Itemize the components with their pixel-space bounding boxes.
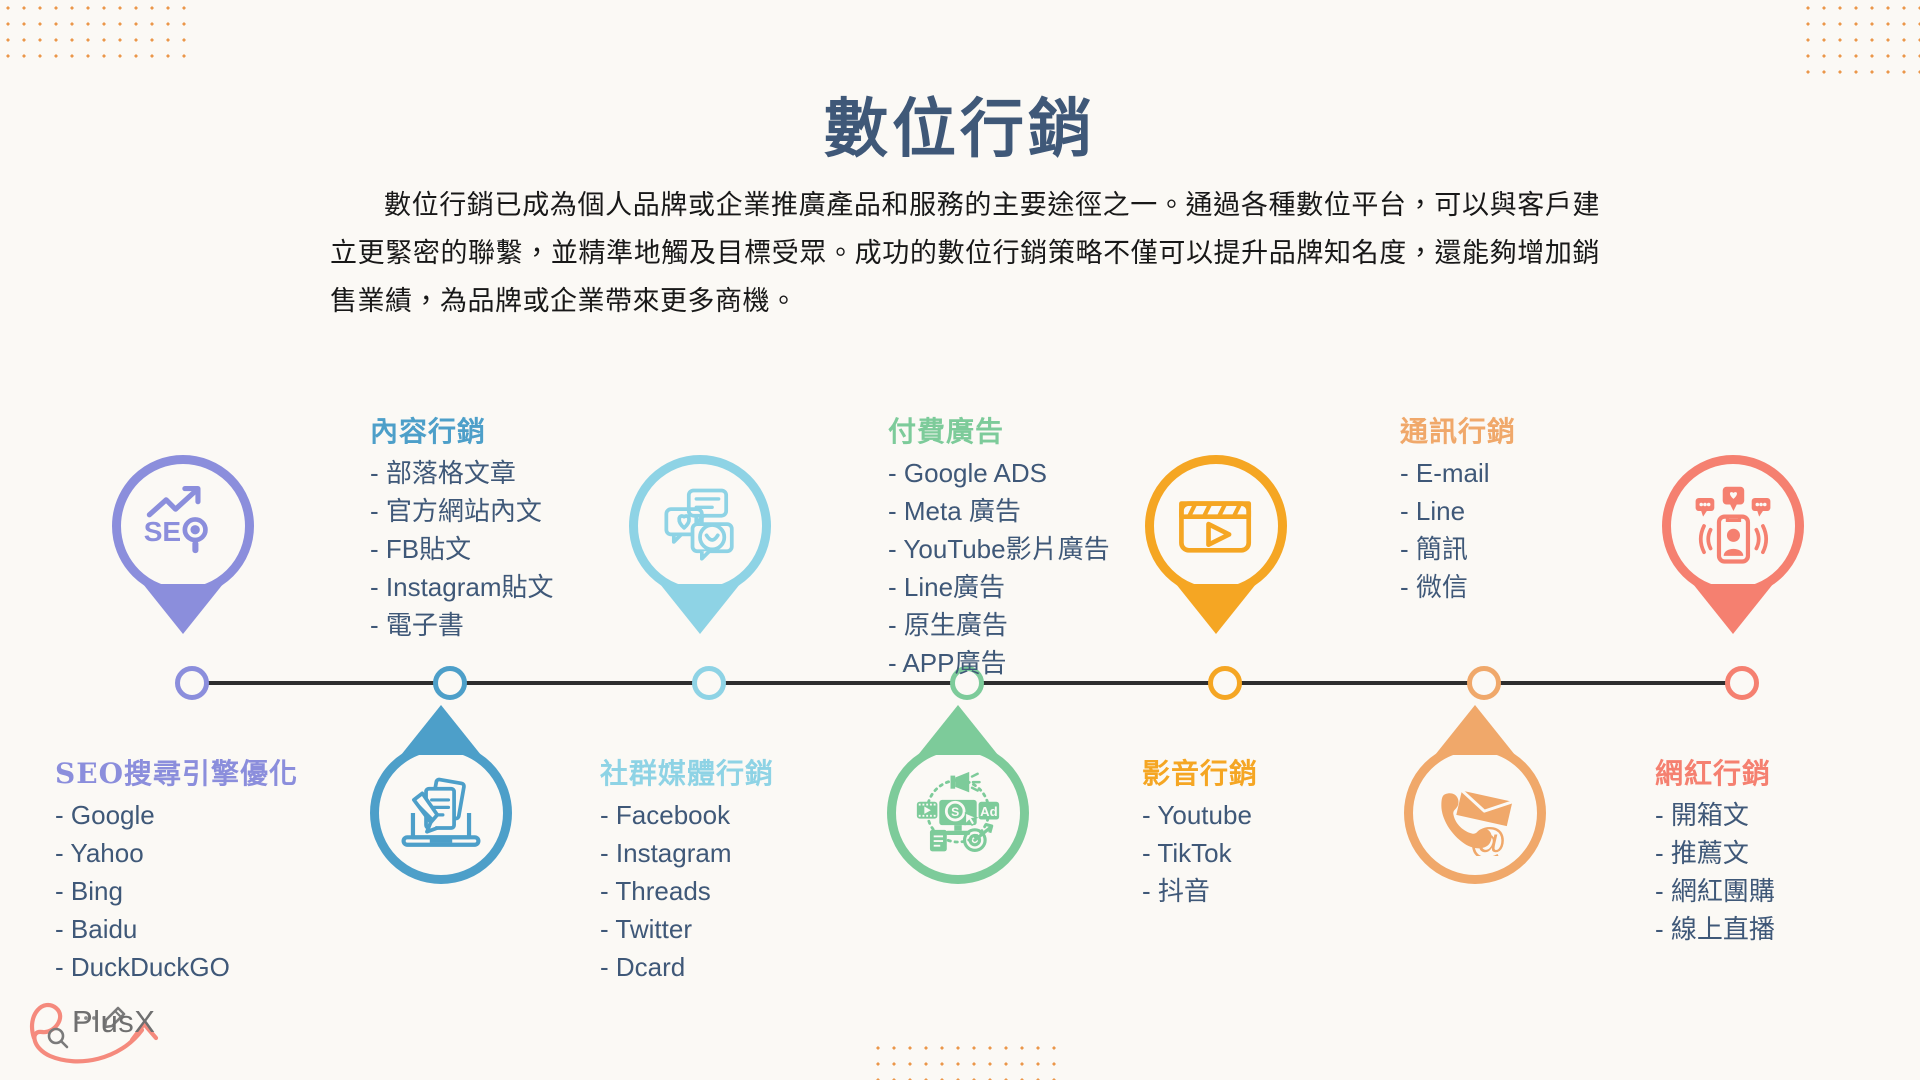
list-item: Youtube [1142,796,1372,834]
map-pin-influencer-marketing[interactable] [1662,455,1804,597]
list-item: Instagram [600,834,860,872]
label-list-communication-marketing: E-mailLine簡訊微信 [1400,454,1640,606]
map-pin-seo[interactable] [112,455,254,597]
list-item: Google [55,796,355,834]
map-pin-social-media-marketing[interactable] [629,455,771,597]
list-item: Twitter [600,910,860,948]
list-item: DuckDuckGO [55,948,355,986]
pin-circle-communication-marketing [1404,742,1546,884]
laptop-documents-pencil-icon [398,770,484,856]
list-item: 網紅團購 [1655,872,1915,910]
timeline-node-communication-marketing[interactable] [1467,666,1501,700]
list-item: 開箱文 [1655,796,1915,834]
phone-envelope-at-icon [1432,770,1518,856]
brand-logo-text: PlusX [72,1004,155,1040]
list-item: Facebook [600,796,860,834]
pin-circle-influencer-marketing [1662,455,1804,597]
map-pin-communication-marketing[interactable] [1404,742,1546,884]
label-block-social-media-marketing: 社群媒體行銷FacebookInstagramThreadsTwitterDca… [600,752,860,986]
list-item: FB貼文 [370,530,630,568]
list-item: Instagram貼文 [370,568,630,606]
pin-circle-content-marketing [370,742,512,884]
label-block-content-marketing: 內容行銷部落格文章官方網站內文FB貼文Instagram貼文電子書 [370,410,630,644]
list-item: Meta 廣告 [888,492,1168,530]
list-item: 部落格文章 [370,454,630,492]
list-item: Google ADS [888,454,1168,492]
pin-circle-seo [112,455,254,597]
pin-circle-social-media-marketing [629,455,771,597]
label-list-paid-advertising: Google ADSMeta 廣告YouTube影片廣告Line廣告原生廣告AP… [888,454,1168,682]
map-pin-paid-advertising[interactable] [887,742,1029,884]
monitor-dollar-megaphone-ad-target-icon [915,770,1001,856]
speech-bubbles-heart-smile-icon [657,483,743,569]
label-title-social-media-marketing: 社群媒體行銷 [600,752,860,792]
label-title-influencer-marketing: 網紅行銷 [1655,752,1915,792]
label-title-communication-marketing: 通訊行銷 [1400,410,1640,450]
clapperboard-play-icon [1173,483,1259,569]
timeline-node-social-media-marketing[interactable] [692,666,726,700]
seo-trend-magnifier-icon [140,483,226,569]
pin-circle-paid-advertising [887,742,1029,884]
list-item: Line [1400,492,1640,530]
list-item: 推薦文 [1655,834,1915,872]
list-item: E-mail [1400,454,1640,492]
label-block-paid-advertising: 付費廣告Google ADSMeta 廣告YouTube影片廣告Line廣告原生… [888,410,1168,682]
timeline: SEO搜尋引擎優化GoogleYahooBingBaiduDuckDuckGO內… [0,0,1920,1080]
list-item: TikTok [1142,834,1372,872]
list-item: Yahoo [55,834,355,872]
phone-person-hearts-icon [1690,483,1776,569]
list-item: 抖音 [1142,872,1372,910]
timeline-node-influencer-marketing[interactable] [1725,666,1759,700]
label-title-video-marketing: 影音行銷 [1142,752,1372,792]
brand-logo: PlusX [20,988,190,1068]
label-list-content-marketing: 部落格文章官方網站內文FB貼文Instagram貼文電子書 [370,454,630,644]
list-item: Threads [600,872,860,910]
list-item: APP廣告 [888,644,1168,682]
list-item: 原生廣告 [888,606,1168,644]
timeline-node-video-marketing[interactable] [1208,666,1242,700]
label-title-content-marketing: 內容行銷 [370,410,630,450]
label-title-paid-advertising: 付費廣告 [888,410,1168,450]
list-item: 線上直播 [1655,910,1915,948]
label-block-video-marketing: 影音行銷YoutubeTikTok抖音 [1142,752,1372,910]
label-list-social-media-marketing: FacebookInstagramThreadsTwitterDcard [600,796,860,986]
list-item: Baidu [55,910,355,948]
label-list-seo: GoogleYahooBingBaiduDuckDuckGO [55,796,355,986]
map-pin-content-marketing[interactable] [370,742,512,884]
label-list-video-marketing: YoutubeTikTok抖音 [1142,796,1372,910]
list-item: Dcard [600,948,860,986]
label-title-seo: SEO搜尋引擎優化 [55,752,355,792]
label-list-influencer-marketing: 開箱文推薦文網紅團購線上直播 [1655,796,1915,948]
list-item: YouTube影片廣告 [888,530,1168,568]
label-block-seo: SEO搜尋引擎優化GoogleYahooBingBaiduDuckDuckGO [55,752,355,986]
timeline-node-content-marketing[interactable] [433,666,467,700]
label-block-influencer-marketing: 網紅行銷開箱文推薦文網紅團購線上直播 [1655,752,1915,948]
list-item: 簡訊 [1400,530,1640,568]
list-item: 官方網站內文 [370,492,630,530]
list-item: Line廣告 [888,568,1168,606]
list-item: 微信 [1400,568,1640,606]
list-item: Bing [55,872,355,910]
list-item: 電子書 [370,606,630,644]
timeline-node-seo[interactable] [175,666,209,700]
label-block-communication-marketing: 通訊行銷E-mailLine簡訊微信 [1400,410,1640,606]
